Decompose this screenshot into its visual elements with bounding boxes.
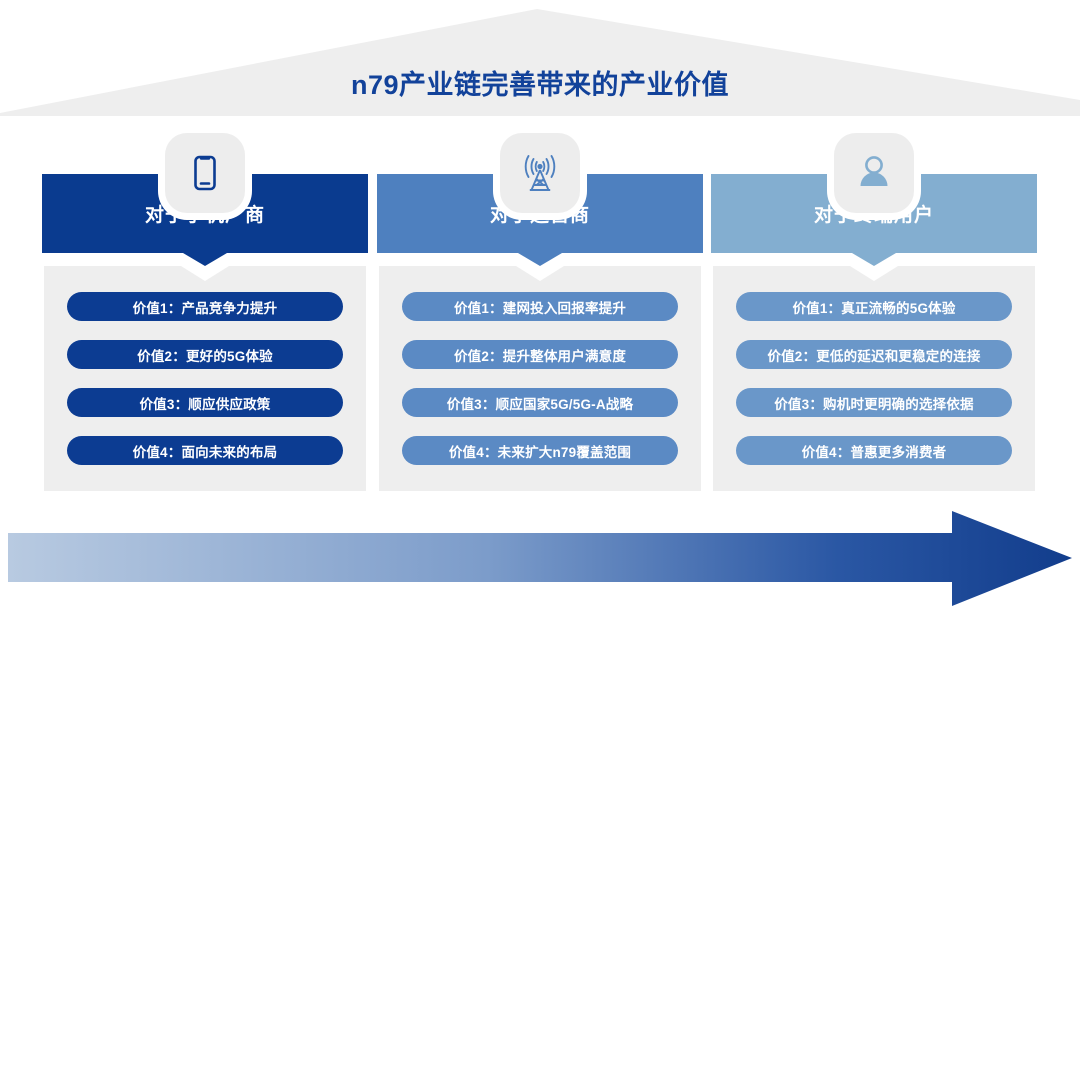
value-pill[interactable]: 价值4：普惠更多消费者 (736, 436, 1012, 465)
panel-chevron (516, 266, 564, 281)
footer-arrow-shape (0, 506, 1080, 610)
value-pill[interactable]: 价值3：购机时更明确的选择依据 (736, 388, 1012, 417)
column-handset-makers: 对于手机厂商 价值1：产品竞争力提升 价值2：更好的5G体验 价值3：顺应供应政… (42, 174, 368, 491)
chain-link-icon (133, 1043, 173, 1077)
banner-notch (518, 253, 562, 266)
person-glyph (851, 150, 897, 196)
page-title: n79产业链完善带来的产业价值 (0, 63, 1080, 102)
smartphone-icon (165, 133, 245, 213)
value-pill[interactable]: 价值2：更低的延迟和更稳定的连接 (736, 340, 1012, 369)
column-panel-end-users: 价值1：真正流畅的5G体验 价值2：更低的延迟和更稳定的连接 价值3：购机时更明… (713, 266, 1035, 491)
column-panel-operators: 价值1：建网投入回报率提升 价值2：提升整体用户满意度 价值3：顺应国家5G/5… (379, 266, 701, 491)
value-pill[interactable]: 价值3：顺应供应政策 (67, 388, 343, 417)
value-pill[interactable]: 价值3：顺应国家5G/5G-A战略 (402, 388, 678, 417)
value-pill[interactable]: 价值1：真正流畅的5G体验 (736, 292, 1012, 321)
panel-chevron (181, 266, 229, 281)
banner-notch (852, 253, 896, 266)
value-pill[interactable]: 价值1：产品竞争力提升 (67, 292, 343, 321)
footer-arrow-banner: 对于产业链价值：形成正向循环，增强了整个产业链的自主可控能力。 (0, 506, 1080, 610)
panel-chevron (850, 266, 898, 281)
banner-notch (183, 253, 227, 266)
value-pill[interactable]: 价值4：面向未来的布局 (67, 436, 343, 465)
value-pill[interactable]: 价值1：建网投入回报率提升 (402, 292, 678, 321)
cell-tower-glyph (516, 149, 564, 197)
smartphone-glyph (183, 151, 227, 195)
value-pill[interactable]: 价值2：提升整体用户满意度 (402, 340, 678, 369)
column-panel-handset-makers: 价值1：产品竞争力提升 价值2：更好的5G体验 价值3：顺应供应政策 价值4：面… (44, 266, 366, 491)
footer-text: 对于产业链价值：形成正向循环，增强了整个产业链的自主可控能力。 (178, 1049, 724, 1074)
person-icon (834, 133, 914, 213)
value-pill[interactable]: 价值4：未来扩大n79覆盖范围 (402, 436, 678, 465)
infographic-canvas: n79产业链完善带来的产业价值 对于手机厂商 价值1：产品竞争力提升 价值2：更… (0, 0, 1080, 637)
column-operators: 对于运营商 价值1：建网投入回报率提升 价值2：提升整体用户满意度 价值3：顺应… (377, 174, 703, 491)
value-pill[interactable]: 价值2：更好的5G体验 (67, 340, 343, 369)
column-end-users: 对于终端用户 价值1：真正流畅的5G体验 价值2：更低的延迟和更稳定的连接 价值… (711, 174, 1037, 491)
cell-tower-icon (500, 133, 580, 213)
